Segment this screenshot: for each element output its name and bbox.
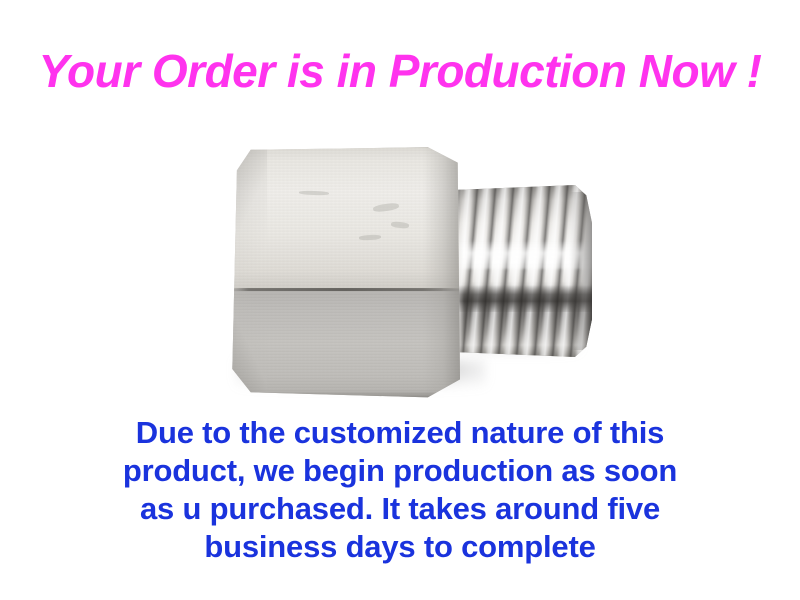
body-line-2: product, we begin production as soon [0,452,800,490]
product-photo [200,120,620,410]
page-title: Your Order is in Production Now ! [0,46,800,97]
body-copy: Due to the customized nature of this pro… [0,414,800,566]
body-line-4: business days to complete [0,528,800,566]
body-line-1: Due to the customized nature of this [0,414,800,452]
hex-chamfer-top-left [230,142,267,292]
hex-top-edge [230,142,460,149]
male-threaded-nipple [450,185,592,357]
hex-right-shoulder [423,147,460,395]
thread-end-cap [569,192,592,350]
promo-banner: Your Order is in Production Now ! [0,0,800,600]
hex-bottom-edge [230,391,460,400]
hex-body [230,142,460,400]
body-line-3: as u purchased. It takes around five [0,490,800,528]
